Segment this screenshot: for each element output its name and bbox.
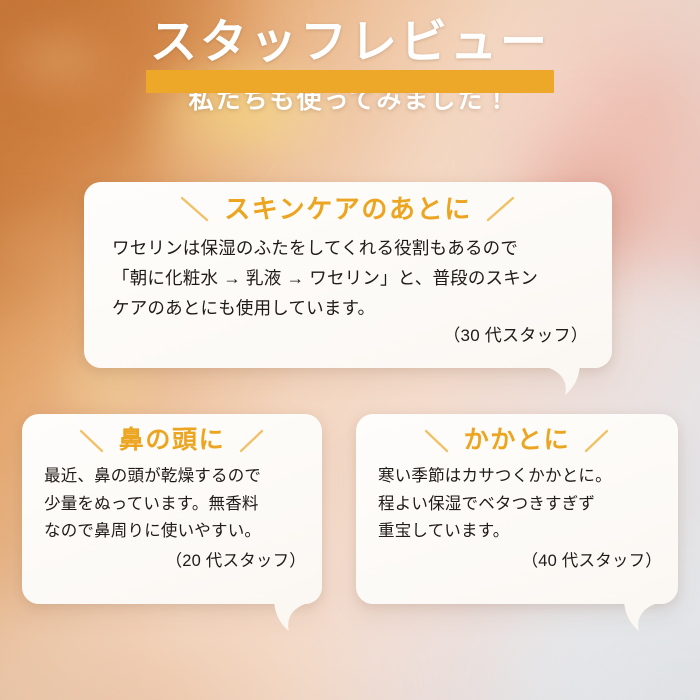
review-body-line: ワセリンは保湿のふたをしてくれる役割もあるので <box>112 234 584 264</box>
review-card-content: かかとに 寒い季節はカサつくかかとに。 程よい保湿でベタつきすぎず 重宝していま… <box>356 414 678 604</box>
review-card-heading-row: かかとに <box>356 414 678 453</box>
staff-review-banner: スタッフレビュー 私たちも使ってみました！ スキンケアのあとに <box>0 0 700 700</box>
review-body-line: 「朝に化粧水 → 乳液 → ワセリン」と、普段のスキン <box>112 264 584 294</box>
review-card-body: 最近、鼻の頭が乾燥するので 少量をぬっています。無香料 なので鼻周りに使いやすい… <box>22 453 322 546</box>
review-card-heading: かかとに <box>464 428 570 453</box>
review-card-nose: 鼻の頭に 最近、鼻の頭が乾燥するので 少量をぬっています。無香料 なので鼻周りに… <box>22 414 322 604</box>
page-title: スタッフレビュー <box>150 18 550 66</box>
review-attribution: （30 代スタッフ） <box>84 321 612 346</box>
review-body-line: なので鼻周りに使いやすい。 <box>44 518 304 546</box>
slash-decoration-icon <box>486 196 516 222</box>
review-card-heading: スキンケアのあとに <box>224 196 472 222</box>
review-body-line: 最近、鼻の頭が乾燥するので <box>44 463 304 491</box>
review-body-line: 重宝しています。 <box>378 518 660 546</box>
review-card-heel: かかとに 寒い季節はカサつくかかとに。 程よい保湿でベタつきすぎず 重宝していま… <box>356 414 678 604</box>
backslash-decoration-icon <box>180 196 210 222</box>
review-body-line: 程よい保湿でベタつきすぎず <box>378 491 660 519</box>
slash-decoration-icon <box>239 429 265 453</box>
review-card-heading: 鼻の頭に <box>119 428 225 453</box>
review-attribution: （40 代スタッフ） <box>356 547 678 571</box>
review-card-content: 鼻の頭に 最近、鼻の頭が乾燥するので 少量をぬっています。無香料 なので鼻周りに… <box>22 414 322 604</box>
review-body-line: ケアのあとにも使用しています。 <box>112 294 584 324</box>
review-card-heading-row: 鼻の頭に <box>22 414 322 453</box>
title-highlight-bar <box>146 70 554 93</box>
review-body-line: 少量をぬっています。無香料 <box>44 491 304 519</box>
review-card-body: ワセリンは保湿のふたをしてくれる役割もあるので 「朝に化粧水 → 乳液 → ワセ… <box>84 222 612 323</box>
header: スタッフレビュー 私たちも使ってみました！ <box>0 18 700 116</box>
review-card-content: スキンケアのあとに ワセリンは保湿のふたをしてくれる役割もあるので 「朝に化粧水… <box>84 182 612 368</box>
backslash-decoration-icon <box>79 429 105 453</box>
review-body-line: 寒い季節はカサつくかかとに。 <box>378 463 660 491</box>
backslash-decoration-icon <box>424 429 450 453</box>
slash-decoration-icon <box>584 429 610 453</box>
review-card-body: 寒い季節はカサつくかかとに。 程よい保湿でベタつきすぎず 重宝しています。 <box>356 453 678 546</box>
review-attribution: （20 代スタッフ） <box>22 547 322 571</box>
review-card-skincare: スキンケアのあとに ワセリンは保湿のふたをしてくれる役割もあるので 「朝に化粧水… <box>84 182 612 368</box>
review-card-heading-row: スキンケアのあとに <box>84 182 612 222</box>
page-title-wrapper: スタッフレビュー <box>144 18 556 66</box>
